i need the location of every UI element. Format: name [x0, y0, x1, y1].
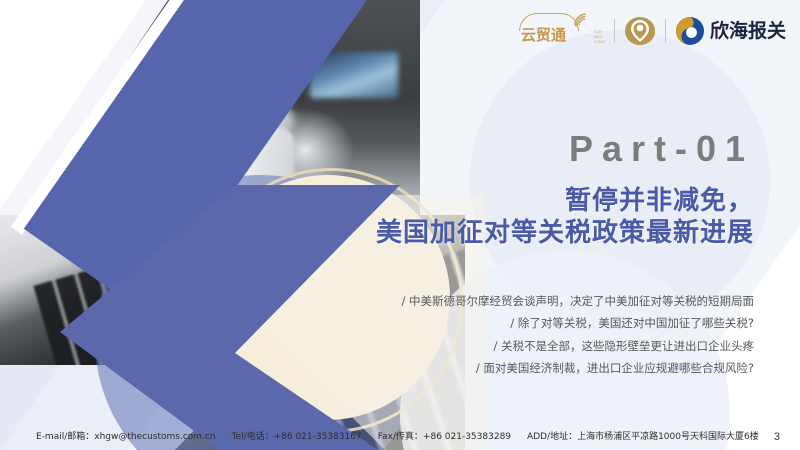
agenda-list: / 中美斯德哥尔摩经贸会谈声明，决定了中美加征对等关税的短期局面 / 除了对等关…	[401, 290, 754, 380]
list-item: / 中美斯德哥尔摩经贸会谈声明，决定了中美加征对等关税的短期局面	[401, 290, 754, 312]
slide-title: 暂停并非减免， 美国加征对等关税政策最新进展	[376, 186, 754, 249]
wifi-icon	[573, 12, 589, 28]
page-number: 3	[774, 431, 780, 443]
logo-divider-1	[614, 19, 615, 43]
logo-divider-2	[665, 19, 666, 43]
footer-address: ADD/地址：上海市杨浦区平凉路1000号天科国际大厦6楼	[527, 429, 759, 442]
logo-bar: 云贸通 YUN MAO TONG 欣海报关	[517, 12, 786, 50]
slide-title-line2: 美国加征对等关税政策最新进展	[376, 218, 754, 250]
xinhai-mark-icon	[675, 16, 705, 46]
slide-title-line1: 暂停并非减免，	[376, 186, 754, 218]
footer-contact-bar: E-mail/邮箱：xhgw@thecustoms.com.cn Tel/电话：…	[36, 429, 752, 442]
logo-yunmaotong-text: 云贸通	[521, 28, 566, 43]
location-pin-icon[interactable]	[624, 15, 656, 47]
logo-xinhai-text: 欣海报关	[710, 22, 786, 41]
cloud-icon: 云贸通	[517, 12, 591, 50]
camera-screen-shape	[310, 52, 398, 98]
footer-email: E-mail/邮箱：xhgw@thecustoms.com.cn	[36, 429, 216, 442]
list-item: / 面对美国经济制裁，进出口企业应规避哪些合规风险?	[401, 357, 754, 379]
logo-yunmaotong-pinyin: YUN MAO TONG	[594, 30, 605, 50]
footer-tel: Tel/电话：+86 021-35383167	[232, 429, 362, 442]
footer-fax: Fax/传真：+86 021-35383289	[378, 429, 511, 442]
logo-yunmaotong[interactable]: 云贸通 YUN MAO TONG	[517, 12, 605, 50]
camera-blur-shape	[212, 38, 282, 100]
presentation-slide: 云贸通 YUN MAO TONG 欣海报关 Part-01	[0, 0, 800, 450]
list-item: / 除了对等关税，美国还对中国加征了哪些关税?	[401, 312, 754, 334]
part-label: Part-01	[569, 131, 754, 167]
list-item: / 关税不是全部，这些隐形壁垒更让进出口企业头疼	[401, 335, 754, 357]
pinyin-tong: TONG	[594, 40, 605, 45]
logo-xinhai[interactable]: 欣海报关	[675, 16, 786, 46]
